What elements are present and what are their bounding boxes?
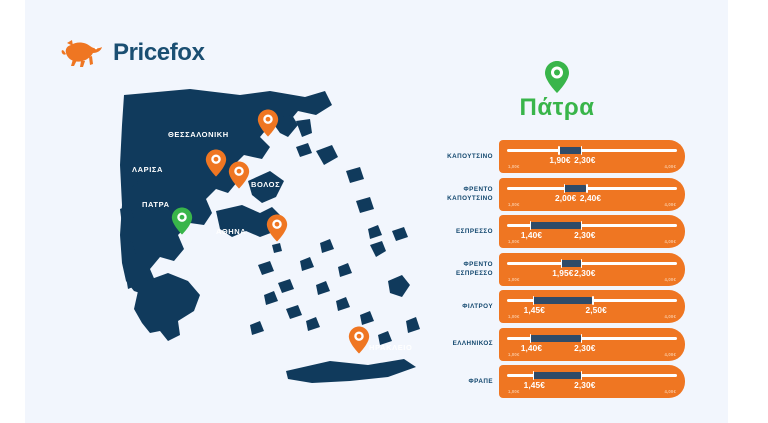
- city-panel-header: Πάτρα: [425, 60, 685, 120]
- price-row[interactable]: ΚΑΠΟΥΤΣΙΝΟ1,00€4,00€1,90€2,30€: [425, 140, 685, 173]
- price-row[interactable]: ΕΛΛΗΝΙΚΟΣ1,00€4,00€1,40€2,30€: [425, 328, 685, 361]
- range-handle-min[interactable]: [533, 371, 535, 380]
- city-label-2: ΒΟΛΟΣ: [251, 180, 280, 189]
- range-handle-min[interactable]: [564, 184, 566, 193]
- scale-max-label: 4,00€: [665, 389, 676, 394]
- price-row[interactable]: ΕΣΠΡΕΣΣΟ1,00€4,00€1,40€2,30€: [425, 215, 685, 248]
- greece-map[interactable]: ΘΕΣΣΑΛΟΝΙΚΗΛΑΡΙΣΑΒΟΛΟΣΠΑΤΡΑΑΘΗΝΑΗΡΑΚΛΕΙΟ: [120, 85, 420, 395]
- range-track[interactable]: [507, 149, 677, 152]
- range-track[interactable]: [507, 262, 677, 265]
- map-pin-icon: [205, 148, 227, 178]
- price-range-bar[interactable]: 1,00€4,00€2,00€2,40€: [499, 178, 685, 211]
- range-track[interactable]: [507, 299, 677, 302]
- price-row-label: ΚΑΠΟΥΤΣΙΝΟ: [425, 152, 499, 161]
- max-price-value: 2,30€: [574, 380, 595, 390]
- price-row[interactable]: ΦΡΕΝΤΟΕΣΠΡΕΣΣΟ1,00€4,00€1,95€2,30€: [425, 253, 685, 286]
- slide-canvas: Pricefox: [25, 0, 728, 423]
- city-label-5: ΗΡΑΚΛΕΙΟ: [369, 343, 412, 352]
- range-track[interactable]: [507, 337, 677, 340]
- range-handle-max[interactable]: [581, 371, 583, 380]
- price-range-bar[interactable]: 1,00€4,00€1,45€2,50€: [499, 290, 685, 323]
- price-row-label: ΦΡΕΝΤΟΚΑΠΟΥΤΣΙΝΟ: [425, 185, 499, 203]
- min-price-value: 1,95€: [552, 268, 573, 278]
- price-row-label: ΦΡΕΝΤΟΕΣΠΡΕΣΣΟ: [425, 260, 499, 278]
- min-price-value: 1,90€: [549, 155, 570, 165]
- fox-icon: [61, 38, 105, 68]
- map-pin-icon: [544, 60, 570, 94]
- city-label-4: ΑΘΗΝΑ: [216, 227, 246, 236]
- min-price-value: 2,00€: [555, 193, 576, 203]
- scale-max-label: 4,00€: [665, 239, 676, 244]
- map-pin-icon: [171, 206, 193, 236]
- map-pin-icon: [228, 160, 250, 190]
- range-handle-max[interactable]: [586, 184, 588, 193]
- max-price-value: 2,50€: [586, 305, 607, 315]
- scale-max-label: 4,00€: [665, 314, 676, 319]
- range-selected[interactable]: [533, 297, 593, 304]
- range-handle-max[interactable]: [581, 221, 583, 230]
- price-range-list: ΚΑΠΟΥΤΣΙΝΟ1,00€4,00€1,90€2,30€ΦΡΕΝΤΟΚΑΠΟ…: [425, 140, 685, 403]
- min-price-value: 1,45€: [524, 305, 545, 315]
- price-row-label: ΕΣΠΡΕΣΣΟ: [425, 227, 499, 236]
- min-price-value: 1,40€: [521, 230, 542, 240]
- scale-min-label: 1,00€: [508, 389, 519, 394]
- price-row[interactable]: ΦΡΑΠΕ1,00€4,00€1,45€2,30€: [425, 365, 685, 398]
- price-range-bar[interactable]: 1,00€4,00€1,90€2,30€: [499, 140, 685, 173]
- price-row[interactable]: ΦΡΕΝΤΟΚΑΠΟΥΤΣΙΝΟ1,00€4,00€2,00€2,40€: [425, 178, 685, 211]
- price-range-bar[interactable]: 1,00€4,00€1,45€2,30€: [499, 365, 685, 398]
- brand-logo[interactable]: Pricefox: [61, 38, 205, 68]
- range-handle-min[interactable]: [558, 146, 560, 155]
- price-row-label: ΦΙΛΤΡΟΥ: [425, 302, 499, 311]
- city-label-3: ΠΑΤΡΑ: [142, 200, 170, 209]
- max-price-value: 2,30€: [574, 230, 595, 240]
- scale-max-label: 4,00€: [665, 352, 676, 357]
- price-range-bar[interactable]: 1,00€4,00€1,95€2,30€: [499, 253, 685, 286]
- map-pin-icon: [257, 108, 279, 138]
- max-price-value: 2,30€: [574, 155, 595, 165]
- scale-max-label: 4,00€: [665, 202, 676, 207]
- scale-max-label: 4,00€: [665, 164, 676, 169]
- range-selected[interactable]: [558, 147, 581, 154]
- city-label-1: ΛΑΡΙΣΑ: [132, 165, 163, 174]
- max-price-value: 2,30€: [574, 268, 595, 278]
- scale-min-label: 1,00€: [508, 314, 519, 319]
- range-handle-max[interactable]: [581, 146, 583, 155]
- range-selected[interactable]: [530, 222, 581, 229]
- scale-min-label: 1,00€: [508, 352, 519, 357]
- range-track[interactable]: [507, 224, 677, 227]
- price-range-bar[interactable]: 1,00€4,00€1,40€2,30€: [499, 215, 685, 248]
- range-track[interactable]: [507, 187, 677, 190]
- range-handle-max[interactable]: [592, 296, 594, 305]
- scale-min-label: 1,00€: [508, 277, 519, 282]
- price-row-label: ΕΛΛΗΝΙΚΟΣ: [425, 339, 499, 348]
- range-handle-max[interactable]: [581, 334, 583, 343]
- scale-min-label: 1,00€: [508, 164, 519, 169]
- range-handle-min[interactable]: [530, 334, 532, 343]
- range-selected[interactable]: [561, 260, 581, 267]
- price-row[interactable]: ΦΙΛΤΡΟΥ1,00€4,00€1,45€2,50€: [425, 290, 685, 323]
- range-handle-min[interactable]: [533, 296, 535, 305]
- scale-max-label: 4,00€: [665, 277, 676, 282]
- range-selected[interactable]: [564, 185, 587, 192]
- range-track[interactable]: [507, 374, 677, 377]
- price-range-bar[interactable]: 1,00€4,00€1,40€2,30€: [499, 328, 685, 361]
- scale-min-label: 1,00€: [508, 239, 519, 244]
- min-price-value: 1,45€: [524, 380, 545, 390]
- min-price-value: 1,40€: [521, 343, 542, 353]
- max-price-value: 2,40€: [580, 193, 601, 203]
- brand-name: Pricefox: [113, 41, 205, 65]
- range-selected[interactable]: [530, 335, 581, 342]
- map-pin-icon: [266, 213, 288, 243]
- page-title: Πάτρα: [457, 96, 657, 120]
- price-row-label: ΦΡΑΠΕ: [425, 377, 499, 386]
- range-handle-min[interactable]: [530, 221, 532, 230]
- scale-min-label: 1,00€: [508, 202, 519, 207]
- range-handle-max[interactable]: [581, 259, 583, 268]
- city-label-0: ΘΕΣΣΑΛΟΝΙΚΗ: [168, 130, 229, 139]
- map-pin-icon: [348, 325, 370, 355]
- range-selected[interactable]: [533, 372, 581, 379]
- max-price-value: 2,30€: [574, 343, 595, 353]
